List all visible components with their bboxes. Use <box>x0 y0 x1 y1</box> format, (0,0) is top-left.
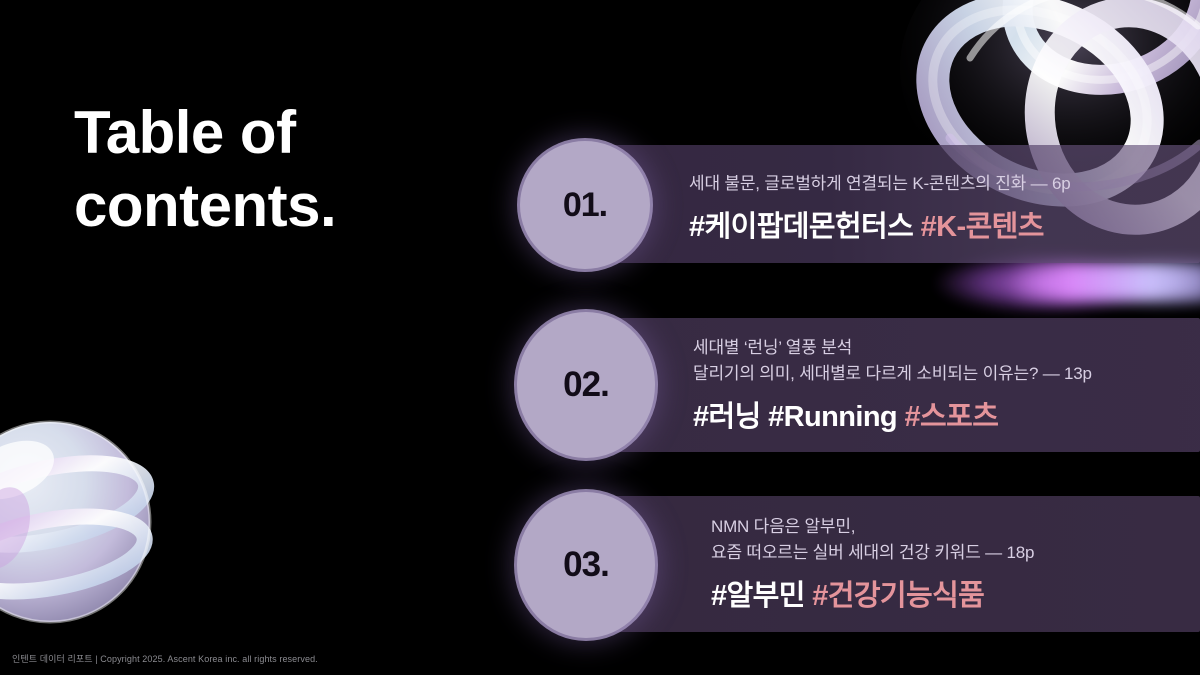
row-text: NMN 다음은 알부민, 요즘 떠오르는 실버 세대의 건강 키워드 — 18p… <box>711 496 1176 632</box>
list-item[interactable]: 세대 불문, 글로벌하게 연결되는 K-콘텐츠의 진화 — 6p #케이팝데몬헌… <box>585 145 1200 263</box>
footer-copyright: 인텐트 데이터 리포트 | Copyright 2025. Ascent Kor… <box>12 652 318 665</box>
row-headline: #케이팝데몬헌터스 #K-콘텐츠 <box>689 203 1176 245</box>
row-text: 세대 불문, 글로벌하게 연결되는 K-콘텐츠의 진화 — 6p #케이팝데몬헌… <box>689 145 1176 267</box>
number-badge[interactable]: 01. <box>520 141 650 269</box>
tag-plain: #알부민 <box>711 580 812 612</box>
row-subtitle-line: 요즘 떠오르는 실버 세대의 건강 키워드 — 18p <box>711 540 1176 566</box>
row-subtitle-line: 세대 불문, 글로벌하게 연결되는 K-콘텐츠의 진화 — 6p <box>689 171 1176 197</box>
tag-accent: #스포츠 <box>905 401 999 433</box>
row-subtitle-line: 달리기의 의미, 세대별로 다르게 소비되는 이유는? — 13p <box>693 361 1176 387</box>
number-badge[interactable]: 03. <box>517 492 655 638</box>
list-item[interactable]: NMN 다음은 알부민, 요즘 떠오르는 실버 세대의 건강 키워드 — 18p… <box>585 496 1200 632</box>
slide-root: Table of contents. 세대 불문, 글로벌하게 연결되는 K-콘… <box>0 0 1200 675</box>
row-headline: #알부민 #건강기능식품 <box>711 572 1176 614</box>
row-subtitle-line: NMN 다음은 알부민, <box>711 514 1176 540</box>
contents-list: 세대 불문, 글로벌하게 연결되는 K-콘텐츠의 진화 — 6p #케이팝데몬헌… <box>0 0 1200 675</box>
tag-plain: #케이팝데몬헌터스 <box>689 211 921 243</box>
tag-plain: #러닝 #Running <box>693 401 905 433</box>
list-item[interactable]: 세대별 ‘런닝’ 열풍 분석 달리기의 의미, 세대별로 다르게 소비되는 이유… <box>585 318 1200 452</box>
row-text: 세대별 ‘런닝’ 열풍 분석 달리기의 의미, 세대별로 다르게 소비되는 이유… <box>693 318 1176 452</box>
row-headline: #러닝 #Running #스포츠 <box>693 393 1176 435</box>
tag-accent: #건강기능식품 <box>812 580 984 612</box>
number-badge[interactable]: 02. <box>517 312 655 458</box>
tag-accent: #K-콘텐츠 <box>921 211 1044 243</box>
row-subtitle-line: 세대별 ‘런닝’ 열풍 분석 <box>693 335 1176 361</box>
